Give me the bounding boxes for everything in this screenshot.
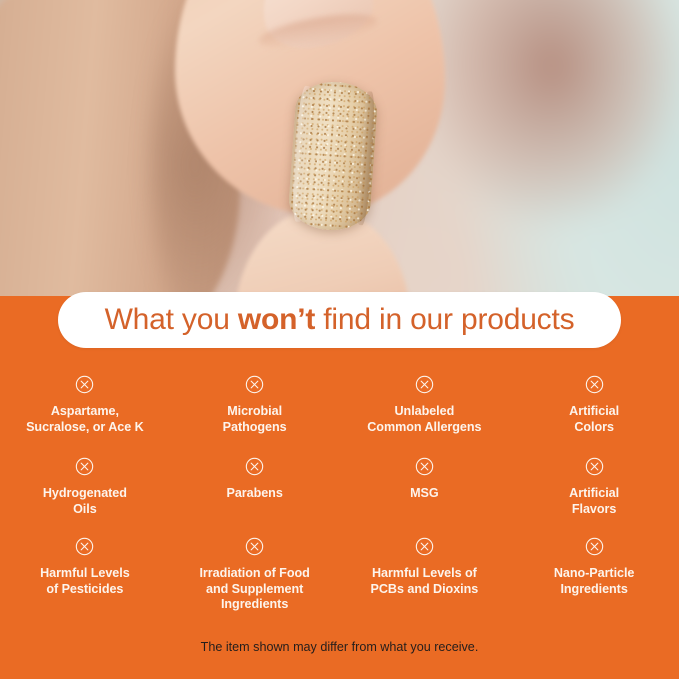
claim-label: ArtificialFlavors [569,486,619,517]
claim-label: HydrogenatedOils [43,486,127,517]
hand-holding-tablet-photo [0,0,679,299]
claim-item: MicrobialPathogens [170,366,340,448]
circle-x-icon [585,457,604,476]
claim-label: Irradiation of Foodand SupplementIngredi… [199,566,309,613]
claim-label: Harmful Levels ofPCBs and Dioxins [371,566,479,597]
page-title-emphasis: won’t [238,303,315,336]
claim-label: MSG [410,486,439,502]
claim-item: ArtificialFlavors [509,448,679,528]
page-title-prefix: What you [105,303,238,336]
claim-label: Nano-ParticleIngredients [554,566,635,597]
claim-label: Harmful Levelsof Pesticides [40,566,130,597]
claim-item: Nano-ParticleIngredients [509,528,679,616]
claim-item: Harmful Levels ofPCBs and Dioxins [340,528,510,616]
circle-x-icon [245,457,264,476]
claim-label: MicrobialPathogens [223,404,287,435]
claim-item: HydrogenatedOils [0,448,170,528]
circle-x-icon [415,457,434,476]
circle-x-icon [245,537,264,556]
claim-item: ArtificialColors [509,366,679,448]
page-title: What you won’t find in our products [105,305,575,335]
claim-label: Aspartame,Sucralose, or Ace K [26,404,144,435]
circle-x-icon [415,375,434,394]
supplement-tablet [287,79,379,232]
circle-x-icon [75,375,94,394]
claim-label: Parabens [226,486,282,502]
circle-x-icon [75,537,94,556]
grid-row: HydrogenatedOils Parabens MSG [0,448,679,528]
excluded-ingredients-grid: Aspartame,Sucralose, or Ace K MicrobialP… [0,366,679,616]
circle-x-icon [585,537,604,556]
grid-row: Aspartame,Sucralose, or Ace K MicrobialP… [0,366,679,448]
infographic-canvas: What you won’t find in our products Aspa… [0,0,679,679]
circle-x-icon [75,457,94,476]
page-title-suffix: find in our products [315,303,574,336]
claim-label: UnlabeledCommon Allergens [367,404,481,435]
circle-x-icon [585,375,604,394]
disclaimer-note: The item shown may differ from what you … [0,639,679,655]
circle-x-icon [415,537,434,556]
claim-item: UnlabeledCommon Allergens [340,366,510,448]
headline-card: What you won’t find in our products [58,292,621,348]
grid-row: Harmful Levelsof Pesticides Irradiation … [0,528,679,616]
claim-item: Irradiation of Foodand SupplementIngredi… [170,528,340,616]
claim-label: ArtificialColors [569,404,619,435]
claim-item: MSG [340,448,510,528]
claim-item: Aspartame,Sucralose, or Ace K [0,366,170,448]
circle-x-icon [245,375,264,394]
claim-item: Harmful Levelsof Pesticides [0,528,170,616]
claim-item: Parabens [170,448,340,528]
